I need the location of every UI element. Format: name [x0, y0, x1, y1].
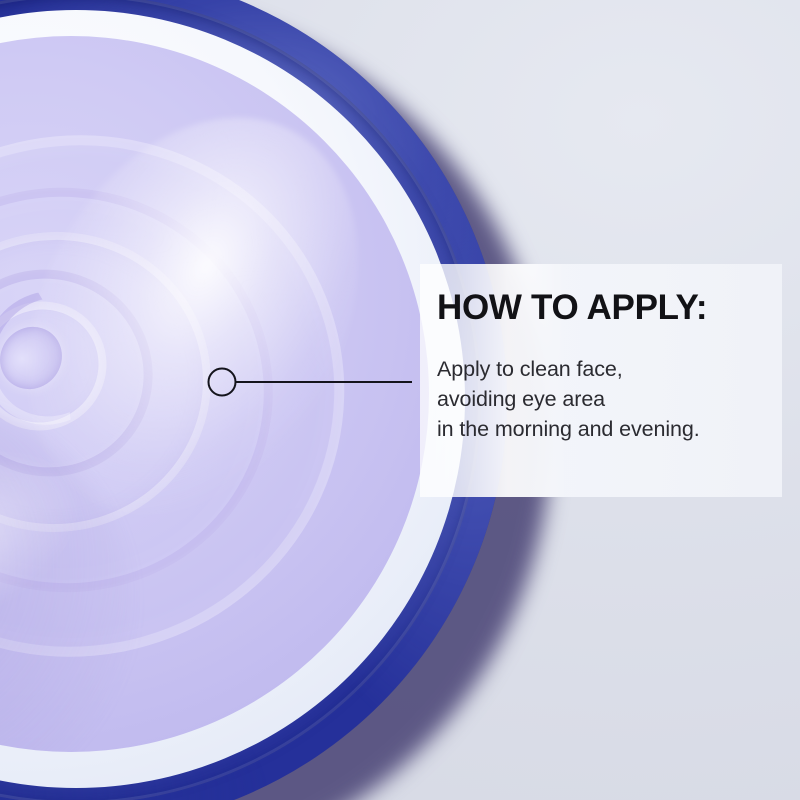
body-line-3: in the morning and evening.	[437, 414, 764, 444]
panel-heading: HOW TO APPLY:	[437, 290, 764, 326]
how-to-apply-panel: HOW TO APPLY: Apply to clean face, avoid…	[420, 264, 782, 497]
scene-canvas: HOW TO APPLY: Apply to clean face, avoid…	[0, 0, 800, 800]
panel-body-text: Apply to clean face, avoiding eye area i…	[437, 326, 764, 444]
body-line-1: Apply to clean face,	[437, 354, 764, 384]
body-line-2: avoiding eye area	[437, 384, 764, 414]
